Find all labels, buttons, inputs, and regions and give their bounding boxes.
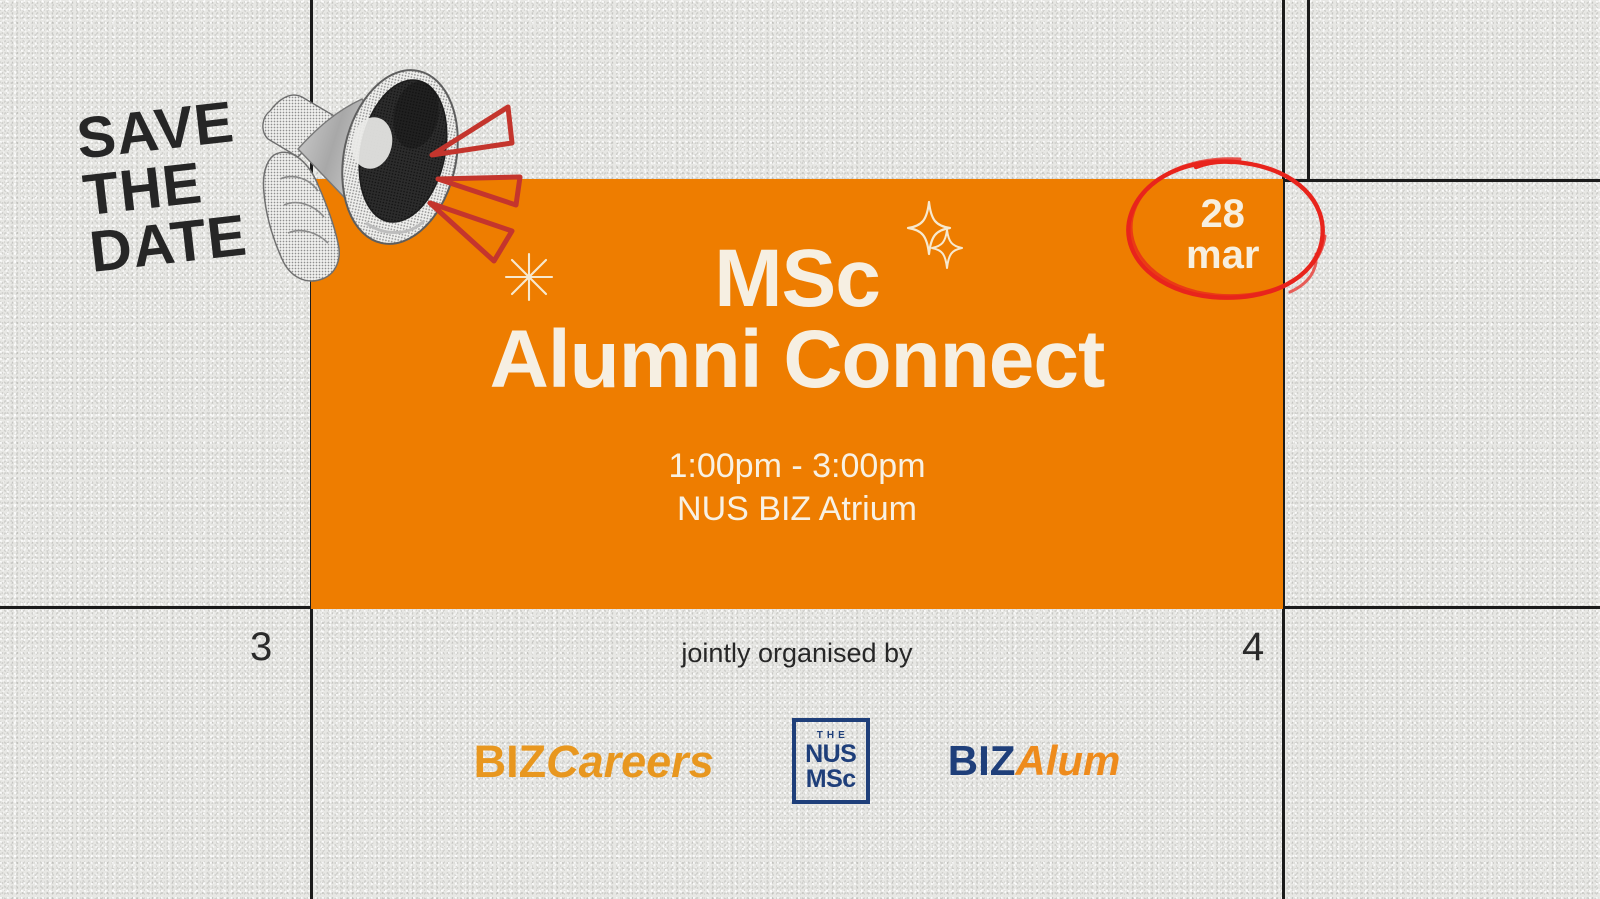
bizcareers-logo-careers: Careers <box>546 736 714 787</box>
save-the-date-poster: 3 4 MSc Alumni Connect 1:00pm - 3:00pm N… <box>0 0 1600 899</box>
nus-msc-logo: THE NUS MSc <box>792 718 870 804</box>
bizalum-logo-alum: Alum <box>1015 737 1120 784</box>
megaphone-icon <box>240 45 540 310</box>
jointly-organised-label: jointly organised by <box>311 638 1283 669</box>
date-badge-text: 28 mar <box>1186 194 1259 276</box>
grid-horizontal-line-bottom-left <box>0 606 312 609</box>
date-month: mar <box>1186 235 1259 276</box>
date-day: 28 <box>1186 194 1259 235</box>
nus-msc-logo-msc: MSc <box>806 767 856 792</box>
calendar-cell-number-3: 3 <box>250 627 272 667</box>
bizalum-logo: BIZAlum <box>948 740 1121 782</box>
bizalum-logo-biz: BIZ <box>948 737 1016 784</box>
event-time: 1:00pm - 3:00pm <box>311 445 1283 489</box>
date-badge: 28 mar <box>1120 150 1335 310</box>
grid-horizontal-line-bottom-right <box>1282 606 1600 609</box>
bizcareers-logo-biz: BIZ <box>474 736 547 787</box>
bizcareers-logo: BIZCareers <box>474 739 714 784</box>
event-title-line-2: Alumni Connect <box>311 319 1283 401</box>
organiser-logo-row: BIZCareers THE NUS MSc BIZAlum <box>311 706 1283 816</box>
nus-msc-logo-nus: NUS <box>805 742 856 767</box>
event-venue: NUS BIZ Atrium <box>311 488 1283 532</box>
save-the-date-text: SAVE THE DATE <box>74 94 250 281</box>
